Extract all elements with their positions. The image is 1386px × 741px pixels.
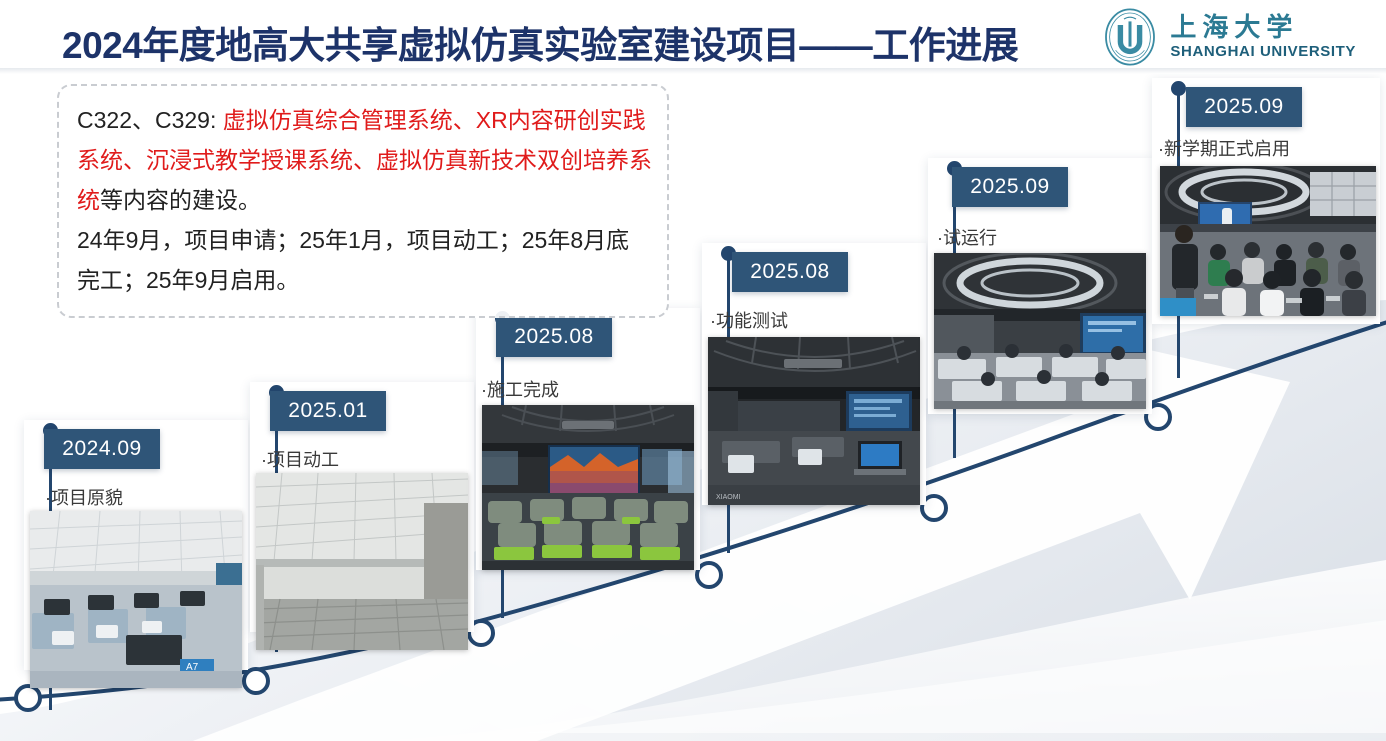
milestone-date: 2025.08	[750, 260, 829, 284]
logo-name-cn: 上海大学	[1170, 15, 1356, 41]
note-segment: 完工；25年9月启用。	[77, 267, 299, 293]
milestone-caption: ·新学期正式启用	[1158, 135, 1290, 161]
milestone-date: 2025.01	[288, 399, 367, 423]
finished-classroom-led-screen-photo	[482, 405, 694, 570]
note-line: 统等内容的建设。	[77, 180, 649, 220]
milestone-photo-5[interactable]	[934, 253, 1146, 409]
milestone-photo-2[interactable]	[256, 473, 468, 650]
milestone-date: 2025.09	[970, 175, 1049, 199]
milestone-photo-6[interactable]	[1160, 166, 1376, 316]
note-line: 24年9月，项目申请；25年1月，项目动工；25年8月底	[77, 220, 649, 260]
note-segment: 24年9月，项目申请；25年1月，项目动工；25年8月底	[77, 227, 629, 253]
milestone-photo-3[interactable]	[482, 405, 694, 570]
card-stem-dot	[1171, 81, 1186, 96]
milestone-date-badge: 2025.09	[952, 167, 1068, 207]
lab-function-testing-photo: XIAOMI	[708, 337, 920, 505]
milestone-date-badge: 2025.09	[1186, 87, 1302, 127]
milestone-photo-1[interactable]: A7	[30, 511, 242, 688]
milestone-caption: ·施工完成	[481, 376, 559, 402]
note-segment: 等内容的建设。	[100, 187, 261, 213]
milestone-date: 2024.09	[62, 437, 141, 461]
note-segment: 统	[77, 187, 100, 213]
note-segment: C322、C329:	[77, 107, 223, 133]
logo-name-en: SHANGHAI UNIVERSITY	[1170, 44, 1356, 59]
slide-header: 2024年度地高大共享虚拟仿真实验室建设项目——工作进展 上海大学 SHANGH…	[0, 0, 1386, 74]
note-segment: 虚拟仿真综合管理系统、XR内容研创实践	[223, 107, 646, 133]
university-logo: 上海大学 SHANGHAI UNIVERSITY	[1100, 6, 1356, 68]
milestone-photo-4[interactable]: XIAOMI	[708, 337, 920, 505]
page-title: 2024年度地高大共享虚拟仿真实验室建设项目——工作进展	[62, 15, 1018, 69]
new-semester-class-in-session-photo	[1160, 166, 1376, 316]
note-line: 完工；25年9月启用。	[77, 260, 649, 300]
milestone-date-badge: 2024.09	[44, 429, 160, 469]
milestone-date-badge: 2025.08	[732, 252, 848, 292]
milestone-date-badge: 2025.08	[496, 317, 612, 357]
shanghai-university-seal-icon	[1100, 7, 1160, 67]
timeline-node	[244, 669, 268, 693]
timeline-node	[697, 563, 721, 587]
timeline-node	[16, 686, 40, 710]
note-segment: 系统、沉浸式教学授课系统、虚拟仿真新技术双创培养系	[77, 147, 652, 173]
classroom-old-computer-lab-photo: A7	[30, 511, 242, 688]
slide-canvas: 2024年度地高大共享虚拟仿真实验室建设项目——工作进展 上海大学 SHANGH…	[0, 0, 1386, 741]
milestone-date: 2025.08	[514, 325, 593, 349]
milestone-date-badge: 2025.01	[270, 391, 386, 431]
milestone-caption: ·功能测试	[710, 307, 788, 333]
construction-empty-room-photo	[256, 473, 468, 650]
milestone-date: 2025.09	[1204, 95, 1283, 119]
trial-run-students-photo	[934, 253, 1146, 409]
note-line: 系统、沉浸式教学授课系统、虚拟仿真新技术双创培养系	[77, 140, 649, 180]
milestone-caption: ·项目原貌	[45, 484, 123, 510]
milestone-caption: ·试运行	[937, 224, 997, 250]
svg-text:XIAOMI: XIAOMI	[716, 494, 741, 501]
project-note-box: C322、C329: 虚拟仿真综合管理系统、XR内容研创实践 系统、沉浸式教学授…	[57, 84, 669, 318]
milestone-caption: ·项目动工	[261, 446, 339, 472]
note-line: C322、C329: 虚拟仿真综合管理系统、XR内容研创实践	[77, 100, 649, 140]
